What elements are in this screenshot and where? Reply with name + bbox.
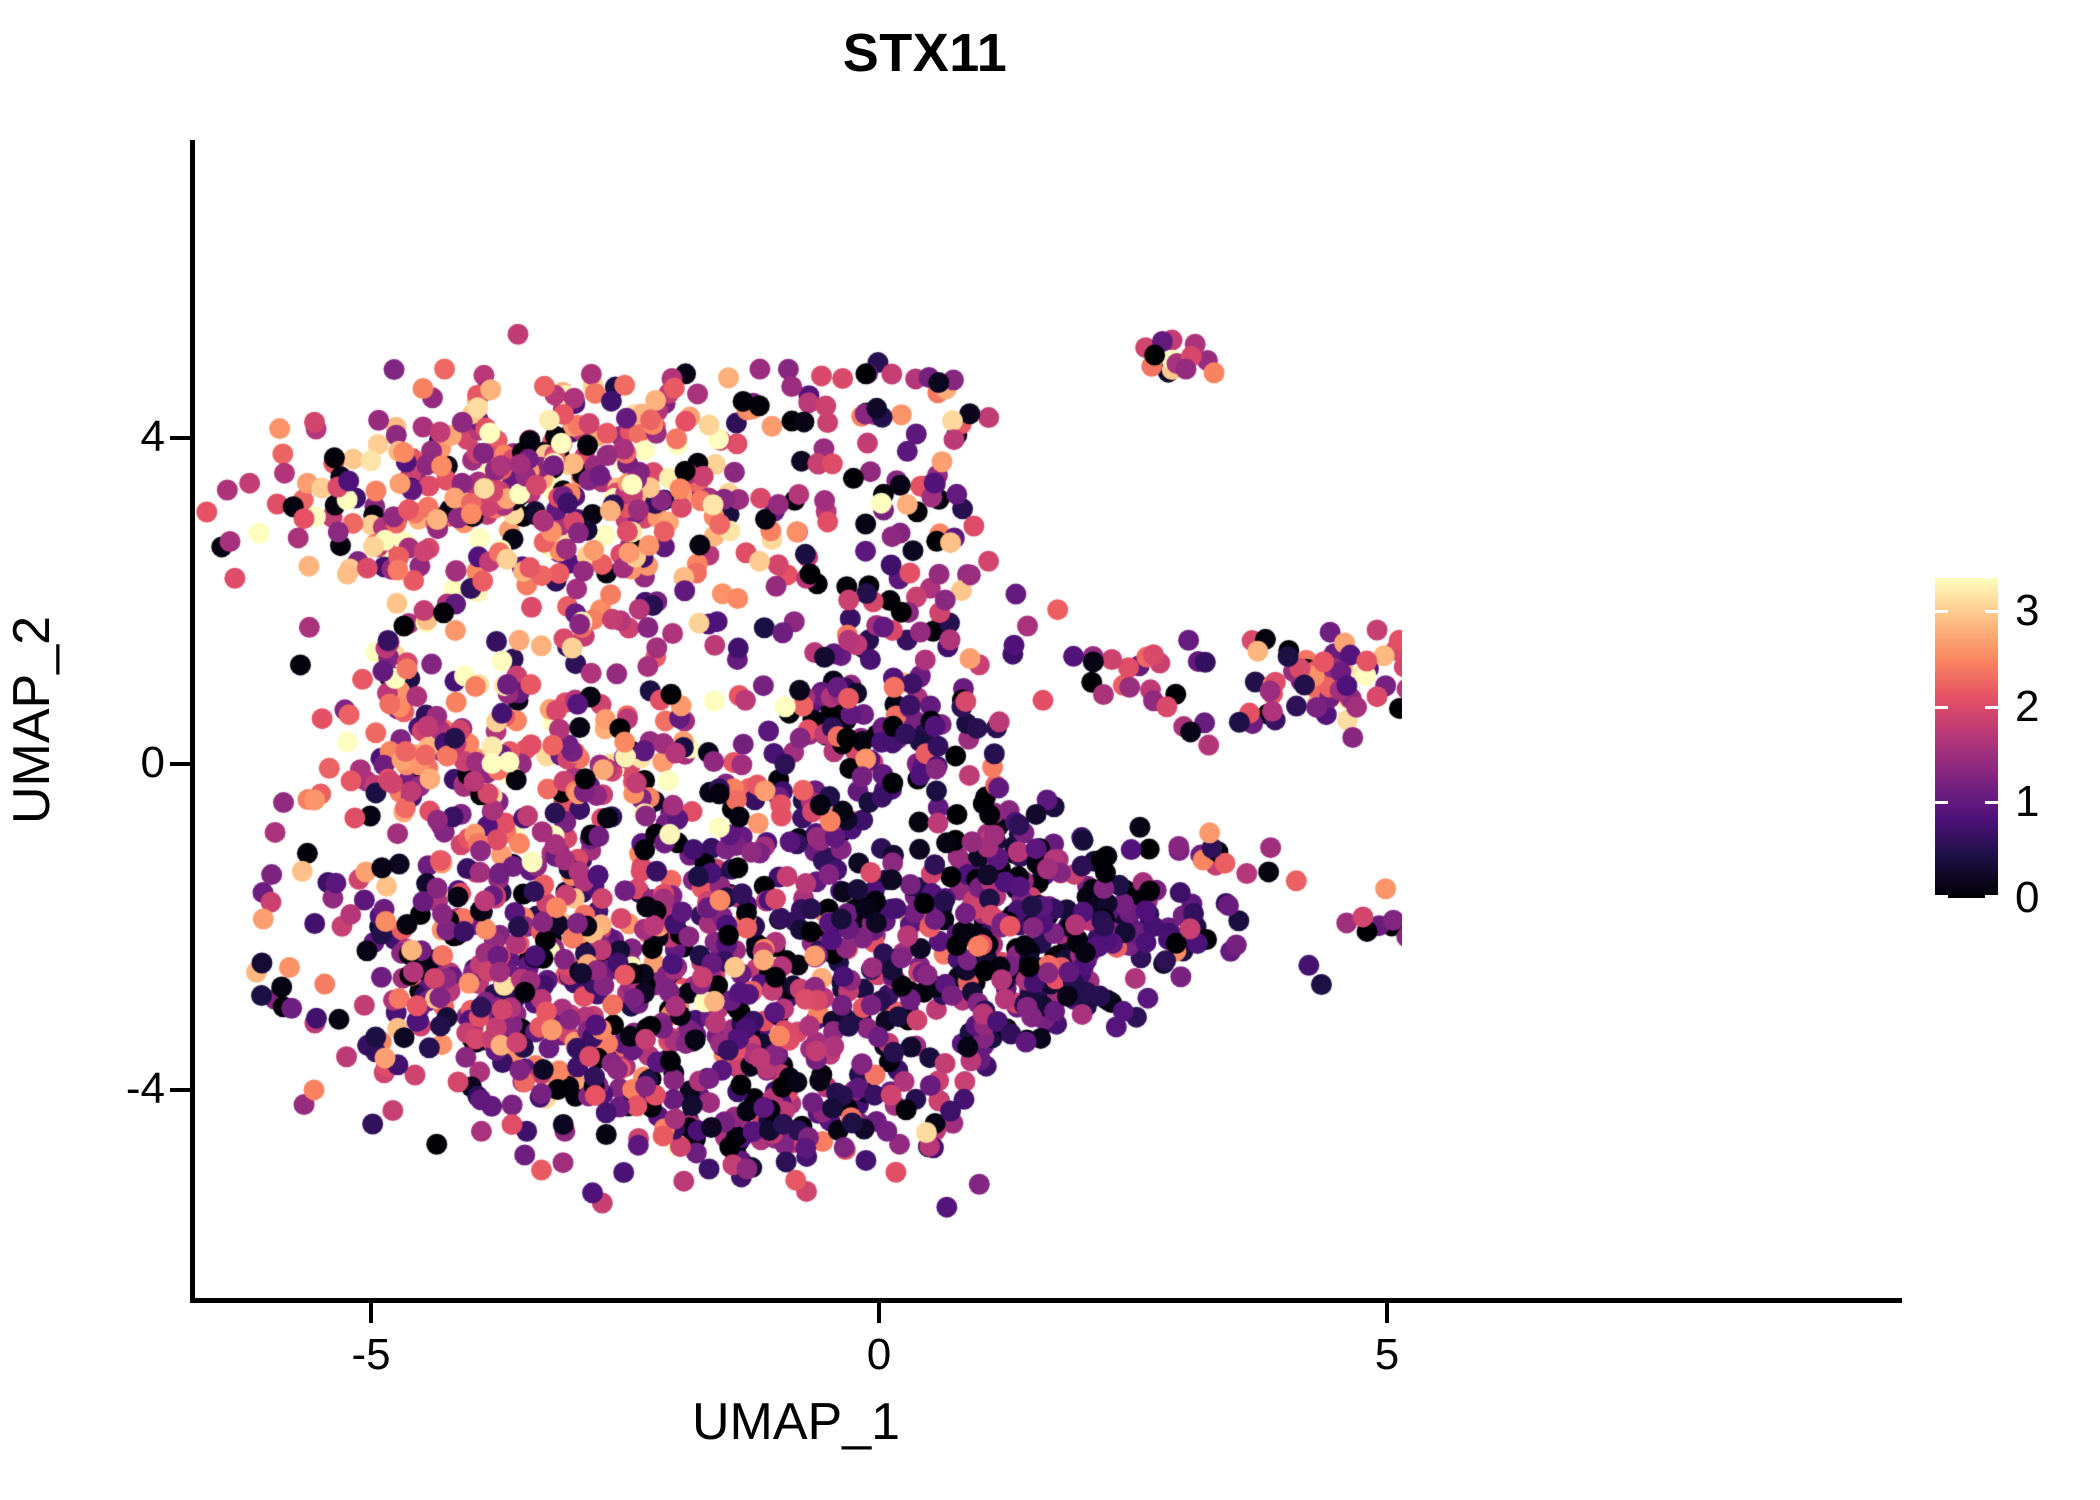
y-tick-label: 4 — [20, 412, 165, 462]
legend-colorbar — [1935, 578, 1998, 898]
y-tick-mark — [170, 762, 190, 766]
x-tick-label: -5 — [291, 1330, 451, 1380]
y-tick-mark — [170, 1088, 190, 1092]
legend-tick-label: 2 — [2015, 685, 2039, 729]
legend-tick-label: 3 — [2015, 589, 2039, 633]
legend-tick-mark — [1935, 706, 1998, 709]
x-axis-line — [190, 1298, 1902, 1303]
scatter-plot-canvas — [194, 140, 1402, 1300]
x-tick-mark — [1385, 1303, 1389, 1323]
legend-tick-label: 0 — [2015, 876, 2039, 920]
y-tick-mark — [170, 436, 190, 440]
y-axis-line — [190, 140, 195, 1303]
x-tick-label: 0 — [799, 1330, 959, 1380]
plot-panel — [194, 140, 1402, 1300]
x-tick-mark — [877, 1303, 881, 1323]
legend-tick-mark — [1935, 801, 1998, 804]
x-tick-label: 5 — [1307, 1330, 1467, 1380]
x-axis-title: UMAP_1 — [190, 1392, 1402, 1452]
legend-tick-mark — [1935, 610, 1998, 613]
y-tick-label: -4 — [20, 1064, 165, 1114]
chart-title: STX11 — [0, 22, 1850, 84]
chart-page: STX11 40-4 -505 UMAP_1 UMAP_2 3210 — [0, 0, 2100, 1500]
x-tick-mark — [369, 1303, 373, 1323]
legend-tick-mark — [1935, 895, 1998, 898]
legend-tick-label: 1 — [2015, 780, 2039, 824]
y-axis-title: UMAP_2 — [2, 460, 62, 980]
